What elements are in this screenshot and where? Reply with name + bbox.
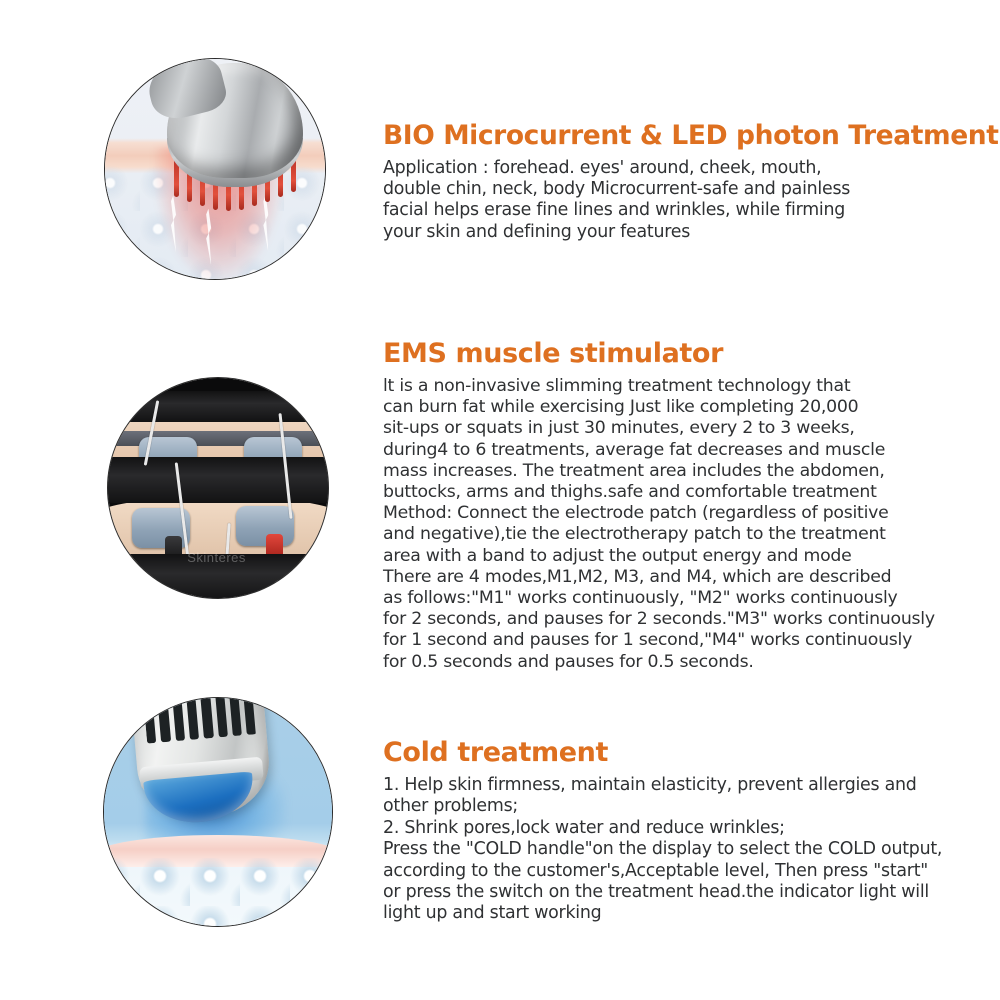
microcurrent-led-head-on-skin-photo	[104, 58, 326, 280]
section-cold-treatment: Cold treatment 1. Help skin firmness, ma…	[0, 690, 1000, 940]
garment-band-top	[107, 391, 329, 422]
section-body-text: Application : forehead. eyes' around, ch…	[383, 158, 983, 243]
text-block-cold-treatment: Cold treatment 1. Help skin firmness, ma…	[383, 737, 953, 925]
text-block-bio-microcurrent: BIO Microcurrent & LED photon Treatment …	[383, 120, 983, 243]
cell-texture	[103, 858, 333, 927]
photo-watermark: Skinteres	[187, 550, 246, 565]
infographic-page: BIO Microcurrent & LED photon Treatment …	[0, 0, 1000, 1000]
section-bio-microcurrent: BIO Microcurrent & LED photon Treatment …	[0, 58, 1000, 298]
text-block-ems-muscle-stimulator: EMS muscle stimulator lt is a non-invasi…	[383, 338, 968, 673]
section-ems-muscle-stimulator: Skinteres EMS muscle stimulator lt is a …	[0, 335, 1000, 675]
cold-treatment-head-on-blue-skin-photo	[103, 697, 333, 927]
garment-band-middle	[107, 457, 329, 503]
section-heading: BIO Microcurrent & LED photon Treatment	[383, 120, 983, 152]
section-body-text: lt is a non-invasive slimming treatment …	[383, 376, 968, 673]
section-heading: EMS muscle stimulator	[383, 338, 968, 370]
section-body-text: 1. Help skin firmness, maintain elastici…	[383, 775, 953, 925]
electrode-pad	[236, 506, 294, 546]
section-heading: Cold treatment	[383, 737, 953, 769]
ems-electrode-pads-on-abdomen-photo: Skinteres	[107, 377, 329, 599]
